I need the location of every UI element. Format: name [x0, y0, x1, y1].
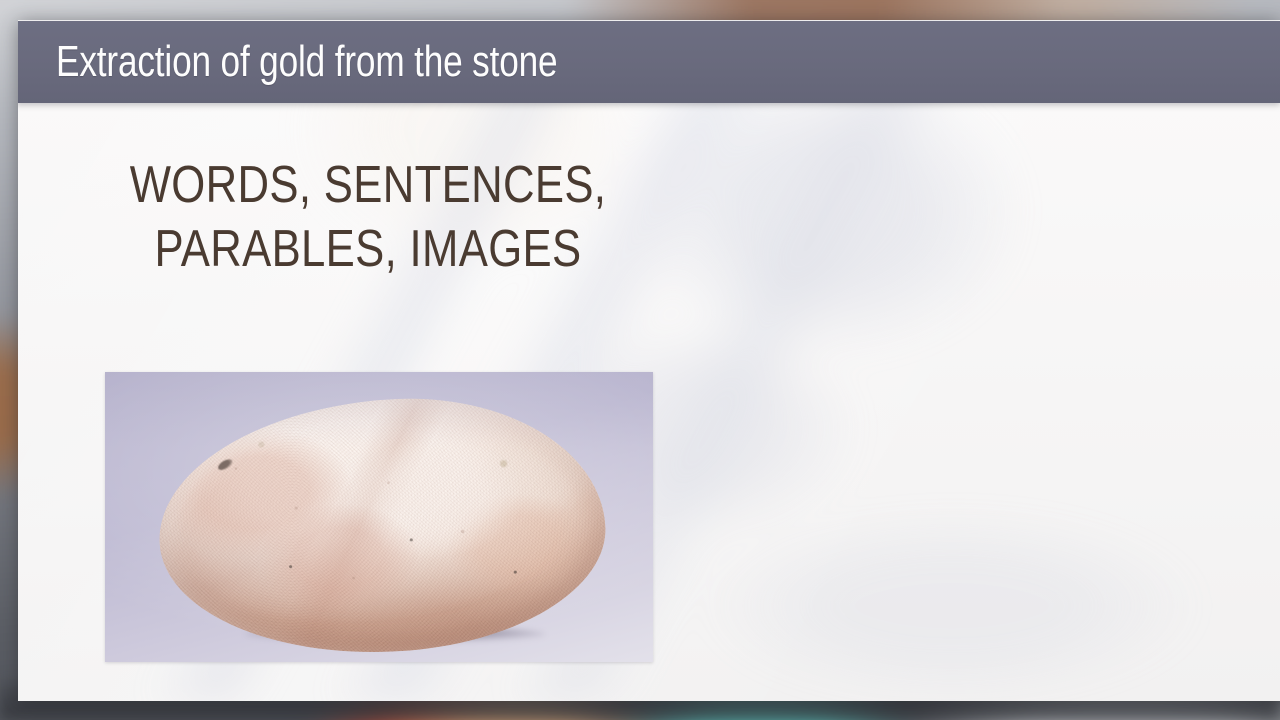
slide-title-bar: Extraction of gold from the stone [18, 21, 1280, 103]
headline-line-2: PARABLES, IMAGES [91, 217, 645, 281]
stone-texture-grain [152, 388, 611, 662]
stone-speck [410, 538, 413, 541]
stone-dark-nick [216, 457, 234, 472]
stone-object [152, 388, 611, 662]
stone-photo [105, 372, 653, 662]
slide-title: Extraction of gold from the stone [56, 37, 557, 87]
headline-line-1: WORDS, SENTENCES, [91, 153, 645, 217]
presentation-slide: Extraction of gold from the stone WORDS,… [18, 20, 1280, 701]
slide-headline: WORDS, SENTENCES, PARABLES, IMAGES [38, 153, 698, 282]
stone-speck [514, 571, 517, 574]
screenshot-stage: Extraction of gold from the stone WORDS,… [0, 0, 1280, 720]
stone-speck [289, 565, 292, 568]
